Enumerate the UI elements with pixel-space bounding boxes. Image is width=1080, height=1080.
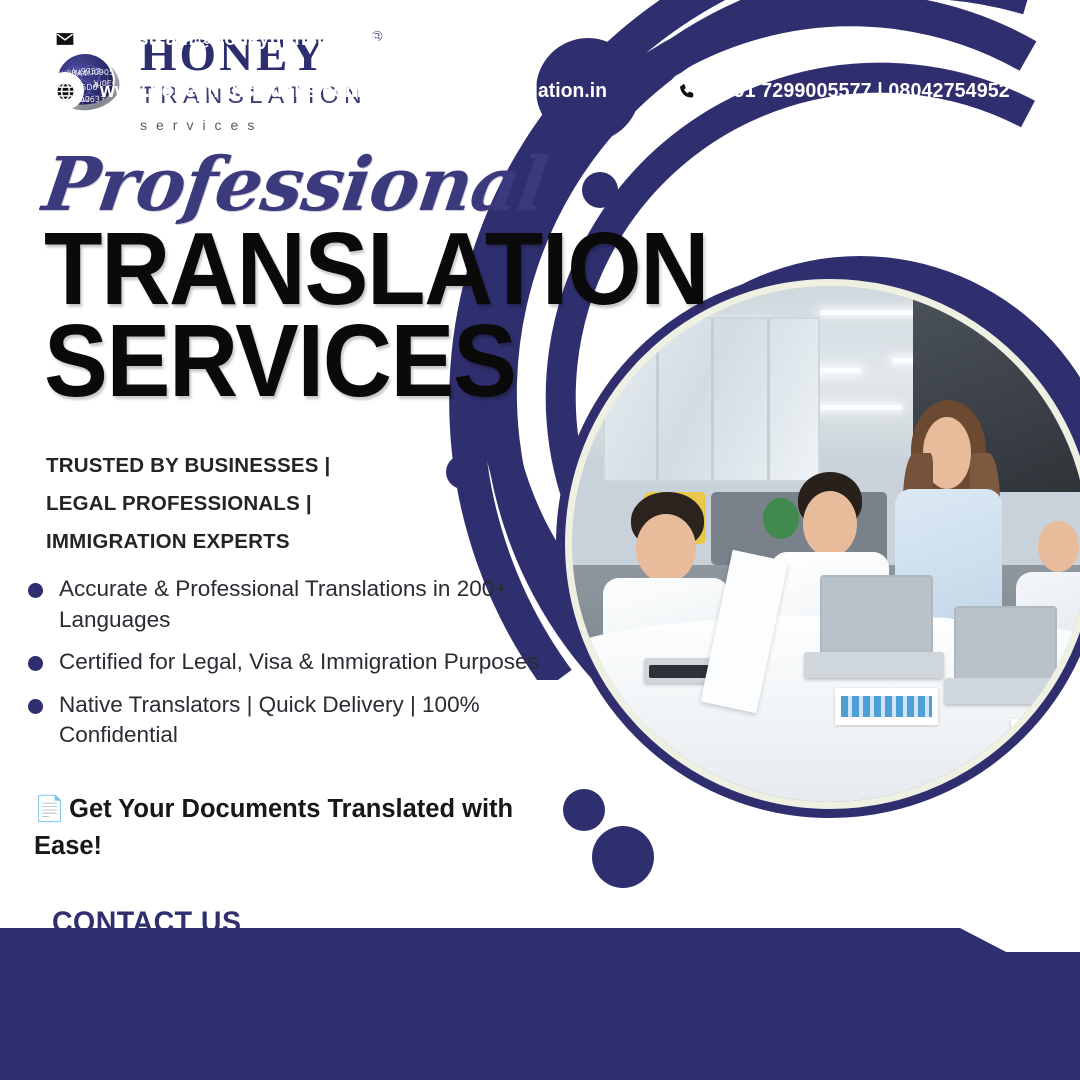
subheading-line-3: IMMIGRATION EXPERTS	[46, 523, 330, 561]
bullet-dot-icon	[28, 699, 43, 714]
contact-phone-value: +91 7299005577 | 08042754952	[722, 79, 1010, 103]
bullet-dot-icon	[28, 656, 43, 671]
contact-email-row[interactable]: salesteam@honeytranslations.com	[46, 20, 438, 58]
contact-section-title: CONTACT US	[52, 906, 241, 940]
phone-icon	[668, 72, 706, 110]
contact-phone-row[interactable]: +91 7299005577 | 08042754952	[668, 72, 1022, 110]
logo-subline-services: services	[140, 117, 367, 133]
headline-line-translation: TRANSLATION	[44, 225, 708, 314]
feature-bullet-list: Accurate & Professional Translations in …	[28, 574, 556, 763]
decorative-dot-photo-large	[592, 826, 654, 888]
headline-script-word: Professional	[39, 152, 762, 219]
subheading-line-2: LEGAL PROFESSIONALS |	[46, 485, 330, 523]
envelope-icon	[46, 20, 84, 58]
list-item: Accurate & Professional Translations in …	[28, 574, 556, 635]
bullet-dot-icon	[28, 583, 43, 598]
list-item-label: Certified for Legal, Visa & Immigration …	[59, 647, 539, 678]
subheading-group: TRUSTED BY BUSINESSES | LEGAL PROFESSION…	[46, 447, 330, 561]
contact-website-row[interactable]: www.honeytranslations.com | www.honeytra…	[46, 72, 628, 110]
subheading-line-1: TRUSTED BY BUSINESSES |	[46, 447, 330, 485]
call-to-action: 📄Get Your Documents Translated with Ease…	[34, 791, 534, 864]
contact-website-value: www.honeytranslations.com | www.honeytra…	[100, 80, 607, 103]
poster-canvas: \u0BA4 \u9752 \u0905 \u0915 \u05D0 A \u0…	[0, 0, 1080, 1080]
list-item-label: Accurate & Professional Translations in …	[59, 574, 556, 635]
contact-footer-bar	[0, 952, 1080, 1080]
list-item: Certified for Legal, Visa & Immigration …	[28, 647, 556, 678]
list-item: Native Translators | Quick Delivery | 10…	[28, 690, 556, 751]
headline-line-services: SERVICES	[44, 317, 708, 406]
headline-group: Professional TRANSLATION SERVICES	[44, 152, 758, 406]
contact-email-value: salesteam@honeytranslations.com	[100, 28, 425, 51]
call-to-action-label: Get Your Documents Translated with Ease!	[34, 795, 513, 860]
globe-icon	[46, 72, 84, 110]
document-page-icon: 📄	[34, 795, 65, 823]
list-item-label: Native Translators | Quick Delivery | 10…	[59, 690, 556, 751]
